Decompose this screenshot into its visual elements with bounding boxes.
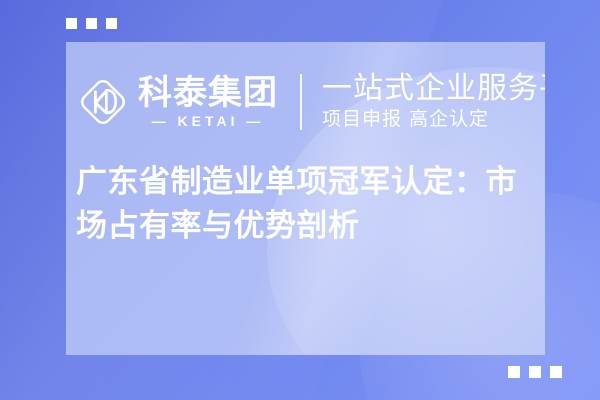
tagline-main: 一站式企业服务平台 xyxy=(322,73,545,105)
decor-squares-top-left xyxy=(66,18,117,29)
brand-name-en: — KETAI — xyxy=(152,114,265,128)
decor-square-icon xyxy=(550,366,562,378)
content-card: 科泰集团 — KETAI — 一站式企业服务平台 项目申报 高企认定 广东省制造… xyxy=(66,42,545,355)
brand-name-cn: 科泰集团 xyxy=(138,76,278,110)
decor-square-icon xyxy=(66,18,77,29)
decor-square-icon xyxy=(86,18,97,29)
brand-tagline: 一站式企业服务平台 项目申报 高企认定 xyxy=(322,73,545,131)
promo-banner: 科泰集团 — KETAI — 一站式企业服务平台 项目申报 高企认定 广东省制造… xyxy=(0,0,600,400)
decor-square-icon xyxy=(508,366,520,378)
brand-logo-text: 科泰集团 — KETAI — xyxy=(138,76,278,128)
brand-header: 科泰集团 — KETAI — 一站式企业服务平台 项目申报 高企认定 xyxy=(66,48,545,156)
article-title: 广东省制造业单项冠军认定：市场占有率与优势剖析 xyxy=(68,160,538,248)
decor-squares-bottom-right xyxy=(508,366,562,378)
decor-square-icon xyxy=(529,366,541,378)
brand-logo[interactable]: 科泰集团 — KETAI — xyxy=(76,75,278,129)
decor-square-icon xyxy=(106,18,117,29)
brand-divider xyxy=(300,74,302,130)
ketai-kd-diamond-logo-icon xyxy=(76,75,130,129)
tagline-sub: 项目申报 高企认定 xyxy=(322,109,545,131)
